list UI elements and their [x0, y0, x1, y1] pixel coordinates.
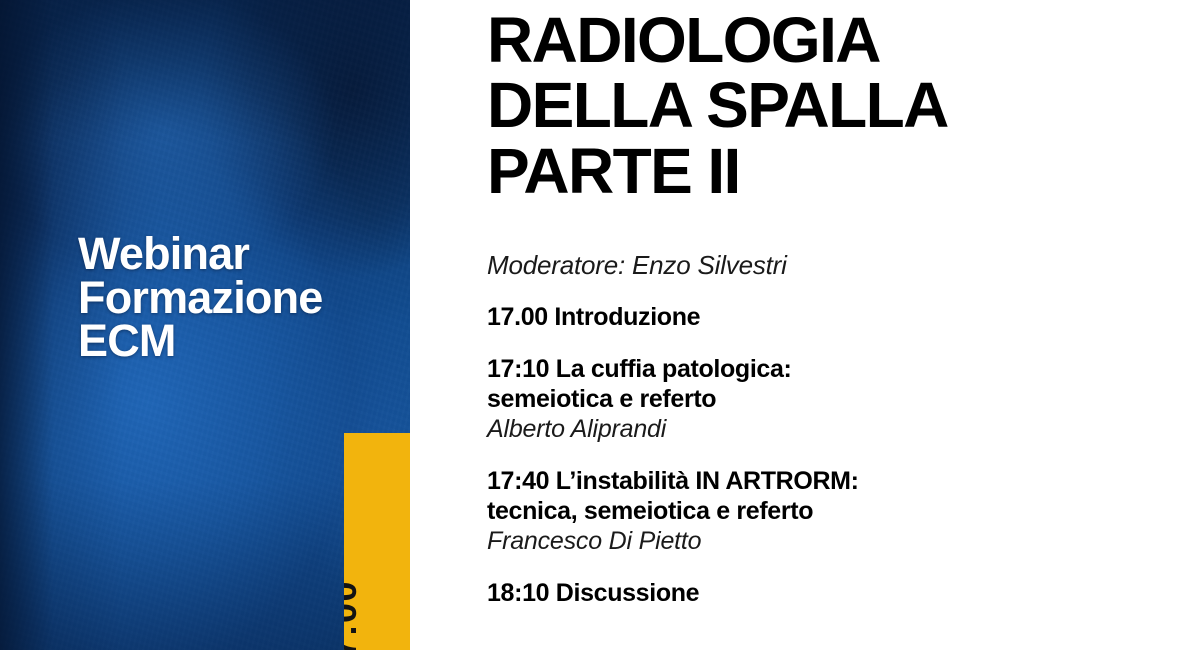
date-band: IO 17:00 [344, 433, 410, 650]
program-item: 18:10 Discussione [487, 579, 1147, 609]
webinar-label: Webinar Formazione ECM [78, 232, 323, 363]
page-title: RADIOLOGIA DELLA SPALLA PARTE II [487, 0, 1147, 204]
program-item: 17.00 Introduzione [487, 303, 1147, 333]
program-item-heading: 17:40 L’instabilità IN ARTRORM: tecnica,… [487, 467, 1147, 526]
webinar-poster: Webinar Formazione ECM IO 17:00 RADIOLOG… [0, 0, 1200, 650]
program-item-speaker: Alberto Aliprandi [487, 414, 1147, 444]
program-item-heading: 17.00 Introduzione [487, 303, 1147, 333]
program-list: 17.00 Introduzione 17:10 La cuffia patol… [487, 303, 1147, 609]
program-item: 17:10 La cuffia patologica: semeiotica e… [487, 355, 1147, 444]
program-item-speaker: Francesco Di Pietto [487, 526, 1147, 556]
date-band-label: IO 17:00 [344, 580, 377, 650]
content-column: RADIOLOGIA DELLA SPALLA PARTE II Moderat… [487, 0, 1147, 650]
program-item-heading: 18:10 Discussione [487, 579, 1147, 609]
program-item: 17:40 L’instabilità IN ARTRORM: tecnica,… [487, 467, 1147, 556]
moderator-line: Moderatore: Enzo Silvestri [487, 250, 1147, 281]
program-item-heading: 17:10 La cuffia patologica: semeiotica e… [487, 355, 1147, 414]
